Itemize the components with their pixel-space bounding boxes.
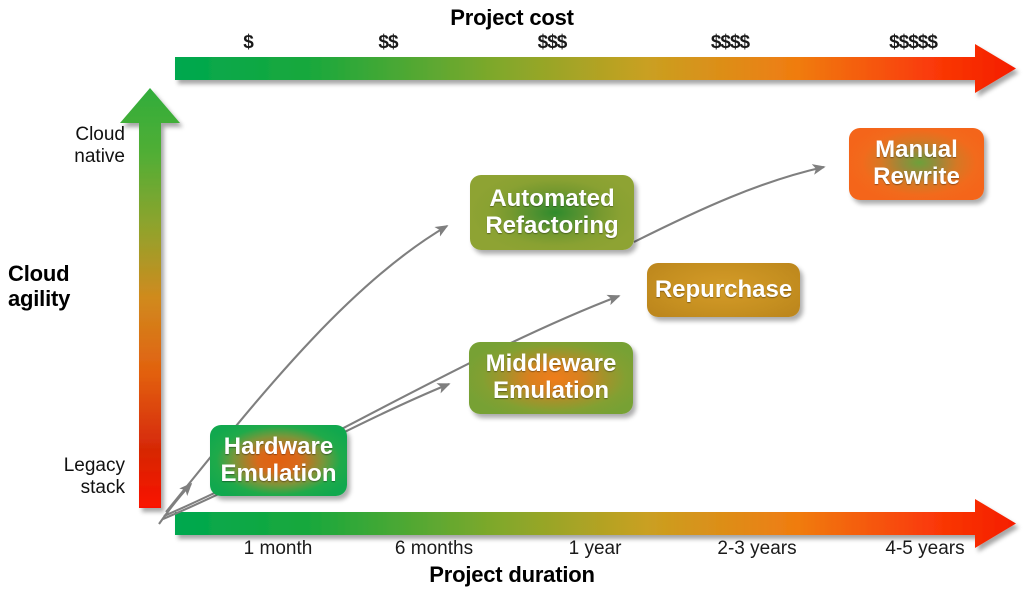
diagram-svg-layer [0, 0, 1024, 599]
node-manual-rewrite[interactable]: Manual Rewrite [849, 128, 984, 200]
arrow-to-manual-rewrite [634, 167, 824, 242]
node-middleware-emulation[interactable]: Middleware Emulation [469, 342, 633, 414]
project-duration-title: Project duration [0, 563, 1024, 588]
node-label: Middleware Emulation [486, 351, 617, 405]
duration-tick-2: 6 months [395, 538, 473, 560]
cost-tick-3: $$$ [538, 32, 567, 54]
node-label: Repurchase [655, 277, 792, 304]
cost-tick-2: $$ [378, 32, 397, 54]
diagram-canvas: Project cost Project duration Cloud agil… [0, 0, 1024, 599]
cost-tick-4: $$$$ [711, 32, 749, 54]
node-label: Automated Refactoring [485, 186, 618, 240]
project-cost-title: Project cost [0, 6, 1024, 31]
cost-tick-1: $ [243, 32, 253, 54]
cost-tick-5: $$$$$ [889, 32, 937, 54]
cloud-agility-title: Cloud agility [8, 262, 118, 311]
legacy-stack-label: Legacy stack [20, 455, 125, 499]
node-label: Hardware Emulation [220, 434, 336, 488]
node-repurchase[interactable]: Repurchase [647, 263, 800, 317]
duration-tick-4: 2-3 years [717, 538, 796, 560]
duration-tick-3: 1 year [569, 538, 622, 560]
duration-tick-1: 1 month [244, 538, 313, 560]
duration-tick-5: 4-5 years [885, 538, 964, 560]
node-label: Manual Rewrite [873, 137, 960, 191]
node-automated-refactoring[interactable]: Automated Refactoring [470, 175, 634, 250]
cloud-agility-axis-arrow [120, 88, 180, 508]
cloud-native-label: Cloud native [20, 124, 125, 168]
node-hardware-emulation[interactable]: Hardware Emulation [210, 425, 347, 496]
